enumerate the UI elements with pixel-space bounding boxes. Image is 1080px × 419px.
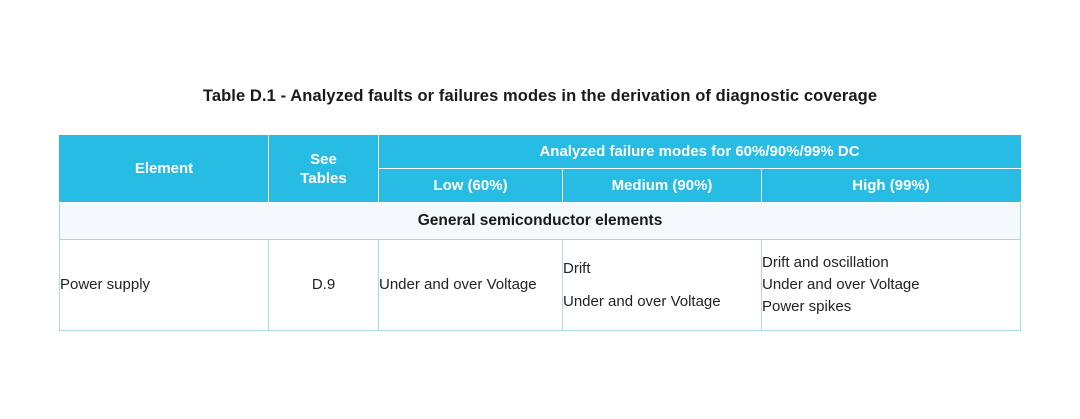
cell-high-line-2: Under and over Voltage [762,274,1020,296]
header-sub-low: Low (60%) [379,169,563,203]
header-element: Element [60,136,269,203]
table-header: Element See Tables Analyzed failure mode… [60,136,1021,203]
cell-see-tables: D.9 [269,240,379,331]
header-see-tables-line2: Tables [300,170,346,187]
section-row-label: General semiconductor elements [60,203,1021,240]
cell-high-line-1: Drift and oscillation [762,252,1020,274]
cell-element: Power supply [60,240,269,331]
cell-medium: Drift Under and over Voltage [563,240,762,331]
header-sub-high: High (99%) [762,169,1021,203]
header-sub-medium: Medium (90%) [563,169,762,203]
header-see-tables-line1: See [310,151,337,168]
section-row: General semiconductor elements [60,203,1021,240]
cell-high: Drift and oscillation Under and over Vol… [762,240,1021,331]
table-body: General semiconductor elements Power sup… [60,203,1021,331]
header-group-title: Analyzed failure modes for 60%/90%/99% D… [379,136,1021,169]
page-root: Table D.1 - Analyzed faults or failures … [0,0,1080,419]
cell-low-line-1: Under and over Voltage [379,274,562,296]
header-row-top: Element See Tables Analyzed failure mode… [60,136,1021,169]
cell-medium-line-1: Drift [563,258,761,280]
table-container: Element See Tables Analyzed failure mode… [59,135,1020,331]
fmeda-table: Element See Tables Analyzed failure mode… [59,135,1021,331]
header-see-tables: See Tables [269,136,379,203]
cell-low: Under and over Voltage [379,240,563,331]
table-caption: Table D.1 - Analyzed faults or failures … [0,87,1080,106]
table-row: Power supply D.9 Under and over Voltage … [60,240,1021,331]
cell-high-line-3: Power spikes [762,296,1020,318]
cell-medium-line-2: Under and over Voltage [563,291,761,313]
